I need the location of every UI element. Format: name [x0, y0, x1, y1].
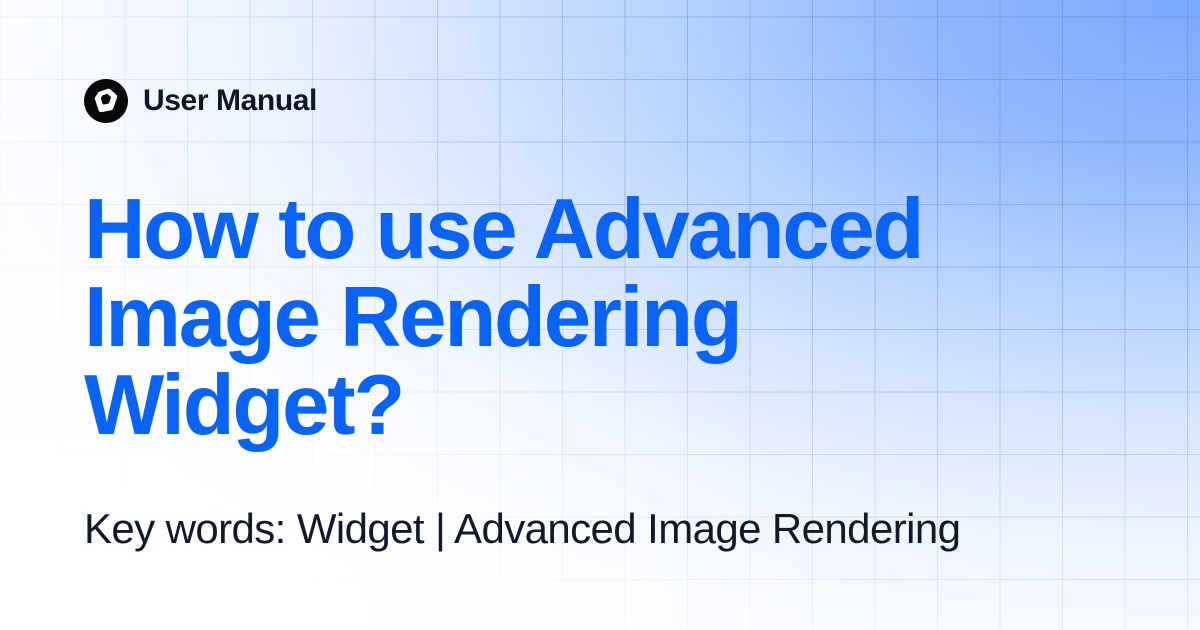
keywords-subtitle: Key words: Widget | Advanced Image Rende…	[84, 505, 960, 553]
cover-card: User Manual How to use Advanced Image Re…	[0, 0, 1200, 630]
page-title: How to use Advanced Image Rendering Widg…	[84, 186, 1024, 450]
pentagon-d-logo-icon	[84, 79, 128, 123]
brand-lockup: User Manual	[84, 79, 317, 123]
cover-content: User Manual How to use Advanced Image Re…	[0, 0, 1200, 630]
brand-label: User Manual	[143, 86, 317, 116]
